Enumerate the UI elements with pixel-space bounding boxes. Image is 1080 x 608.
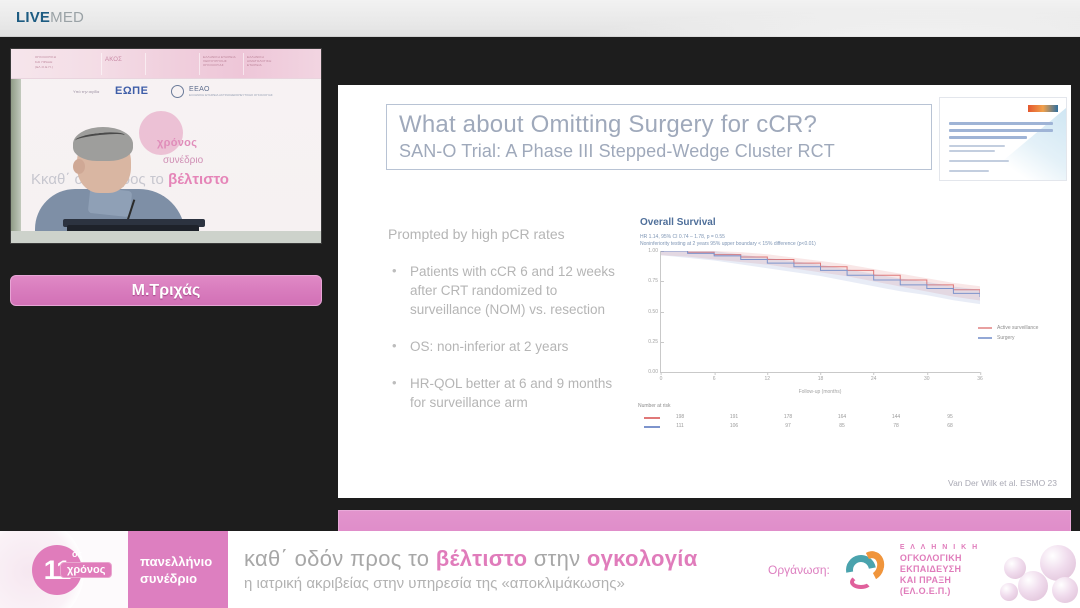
- speaker-video-panel[interactable]: ΟΓΚΟΛΟΓΙΚΗ ΚΑΙ ΠΡΑΞΗ (ΕΛ.Ο.Ε.Π.) ΑΚΟΣ ΕΛ…: [10, 48, 322, 244]
- risk-value: 97: [785, 423, 791, 429]
- backdrop-eead-logo: ΕΕΑΟ ΕΛΛΗΝΙΚΗ ΕΤΑΙΡΕΙΑ ΑΚΤΙΝΟΘΕΡΑΠΕΥΤΙΚΗ…: [189, 86, 273, 97]
- legend-swatch-surgery: [978, 337, 992, 339]
- chart-legend: Active surveillance Surgery: [978, 325, 1066, 345]
- x-tick-4: 24: [871, 372, 877, 382]
- list-item: HR-QOL better at 6 and 9 months for surv…: [388, 374, 628, 412]
- backdrop-chronos-text: χρόνος: [157, 137, 197, 149]
- list-item: OS: non-inferior at 2 years: [388, 337, 628, 356]
- risk-value: 68: [947, 423, 953, 429]
- legend-item-surveillance: Active surveillance: [978, 325, 1066, 331]
- legend-item-surgery: Surgery: [978, 335, 1066, 341]
- x-tick-0: 0: [660, 372, 663, 382]
- tagline-highlight-1: βέλτιστο: [436, 546, 528, 571]
- paper-thumbnail-wedge: [980, 108, 1066, 180]
- tagline-highlight-2: ογκολογία: [587, 546, 698, 571]
- risk-value: 111: [676, 423, 684, 429]
- speaker-ear: [73, 159, 85, 174]
- risk-value: 85: [839, 423, 845, 429]
- backdrop-eead-seal: [171, 85, 184, 98]
- risk-table-title: Number at risk: [638, 403, 1063, 409]
- banner-logo-area: 11 ος χρόνος: [0, 531, 128, 608]
- list-item: Patients with cCR 6 and 12 weeks after C…: [388, 262, 628, 319]
- backdrop-sponsor-2: ΕΛΛΗΝΙΚΗ ΑΙΜΑΤΟΛΟΓΙΚΗ ΕΤΑΙΡΕΙΑ: [247, 55, 285, 67]
- y-tick-3: 0.75: [648, 278, 661, 284]
- backdrop-eope-logo: ΕΩΠΕ: [115, 85, 148, 97]
- legend-label-surveillance: Active surveillance: [997, 325, 1038, 331]
- slide-title-box: What about Omitting Surgery for cCR? SAN…: [386, 104, 932, 170]
- slide-bullet-block: Prompted by high pCR rates Patients with…: [388, 225, 628, 430]
- conference-banner: 11 ος χρόνος πανελλήνιο συνέδριο καθ΄ οδ…: [0, 531, 1080, 608]
- y-tick-2: 0.50: [648, 309, 661, 315]
- slide-panel[interactable]: What about Omitting Surgery for cCR? SAN…: [338, 85, 1071, 498]
- x-tick-3: 18: [818, 372, 824, 382]
- backdrop-akos-logo: ΑΚΟΣ: [105, 58, 122, 62]
- chart-annotations: HR 1.14, 95% CI 0.74 – 1.78, p = 0.55 No…: [640, 234, 816, 248]
- x-tick-6: 36: [977, 372, 983, 382]
- survival-chart: Overall Survival HR 1.14, 95% CI 0.74 – …: [638, 217, 1063, 461]
- presentation-stage: ΟΓΚΟΛΟΓΙΚΗ ΚΑΙ ΠΡΑΞΗ (ΕΛ.Ο.Ε.Π.) ΑΚΟΣ ΕΛ…: [0, 37, 1080, 531]
- backdrop-synedrio-text: συνέδριο: [163, 155, 203, 166]
- organizer-label: Οργάνωση:: [768, 563, 830, 577]
- slide-title-main: What about Omitting Surgery for cCR?: [399, 111, 921, 139]
- backdrop-eead-sub: ΕΛΛΗΝΙΚΗ ΕΤΑΙΡΕΙΑ ΑΚΤΙΝΟΘΕΡΑΠΕΥΤΙΚΗΣ ΟΓΚ…: [189, 93, 273, 97]
- paper-thumbnail: [939, 97, 1067, 181]
- speaker-video-feed: ΟΓΚΟΛΟΓΙΚΗ ΚΑΙ ΠΡΑΞΗ (ΕΛ.Ο.Ε.Π.) ΑΚΟΣ ΕΛ…: [11, 49, 321, 243]
- paper-journal-badge: [1028, 105, 1058, 112]
- table-row: 111 106 97 85 78 68: [638, 423, 1063, 432]
- bullet-list: Patients with cCR 6 and 12 weeks after C…: [388, 262, 628, 412]
- risk-value: 106: [730, 423, 738, 429]
- anniversary-chronos: χρόνος: [60, 562, 112, 578]
- banner-subtagline: η ιατρική ακριβείας στην υπηρεσία της «α…: [244, 573, 698, 595]
- kaplan-meier-curves: [661, 251, 980, 372]
- banner-bubbles-decoration: [960, 531, 1080, 608]
- number-at-risk-table: Number at risk 198 191 178 164 144 95 11…: [638, 403, 1063, 432]
- logo-live-text: LIVE: [16, 9, 50, 26]
- logo-med-text: MED: [50, 9, 84, 26]
- table-row: 198 191 178 164 144 95: [638, 414, 1063, 423]
- organizer-swirl-icon: [844, 549, 892, 591]
- risk-value: 198: [676, 414, 684, 420]
- legend-label-surgery: Surgery: [997, 335, 1015, 341]
- congress-label: πανελλήνιο συνέδριο: [128, 531, 228, 608]
- tagline-pre: καθ΄ οδόν προς το: [244, 546, 436, 571]
- chart-title: Overall Survival: [640, 217, 716, 228]
- banner-tagline: καθ΄ οδόν προς το βέλτιστο στην ογκολογί…: [244, 545, 698, 573]
- backdrop-aegis-label: Υπό την αιγίδα: [73, 89, 99, 94]
- chart-annotation-noninferiority: Noninferiority testing at 2 years 95% up…: [640, 241, 816, 248]
- risk-value: 178: [784, 414, 792, 420]
- risk-swatch-surveillance: [644, 417, 660, 419]
- risk-value: 144: [892, 414, 900, 420]
- backdrop-org-text2: ΚΑΙ ΠΡΑΞΗ: [35, 60, 95, 64]
- speaker-name-text: Μ.Τριχάς: [132, 282, 201, 300]
- top-bar: LIVEMED: [0, 0, 1080, 37]
- chart-annotation-hr: HR 1.14, 95% CI 0.74 – 1.78, p = 0.55: [640, 234, 816, 241]
- tagline-mid: στην: [527, 546, 587, 571]
- y-tick-4: 1.00: [648, 248, 661, 254]
- legend-swatch-surveillance: [978, 327, 992, 329]
- backdrop-org-text: ΟΓΚΟΛΟΓΙΚΗ: [35, 55, 95, 59]
- backdrop-org-text3: (ΕΛ.Ο.Ε.Π.): [35, 65, 95, 69]
- anniversary-ordinal: ος: [72, 549, 82, 559]
- congress-line-1: πανελλήνιο: [140, 553, 228, 570]
- congress-line-2: συνέδριο: [140, 570, 228, 587]
- x-tick-1: 6: [713, 372, 716, 382]
- risk-value: 191: [730, 414, 738, 420]
- chart-plot-area: 0.00 0.25 0.50 0.75 1.00 0 6 12 18 24 30…: [660, 251, 980, 373]
- speaker-nameplate: Μ.Τριχάς: [10, 275, 322, 306]
- y-tick-1: 0.25: [648, 339, 661, 345]
- x-tick-5: 30: [924, 372, 930, 382]
- risk-value: 78: [893, 423, 899, 429]
- risk-value: 95: [947, 414, 953, 420]
- banner-tagline-block: καθ΄ οδόν προς το βέλτιστο στην ογκολογί…: [244, 531, 698, 608]
- backdrop-sponsor-strip: ΟΓΚΟΛΟΓΙΚΗ ΚΑΙ ΠΡΑΞΗ (ΕΛ.Ο.Ε.Π.) ΑΚΟΣ ΕΛ…: [10, 49, 322, 79]
- video-floor: [11, 231, 321, 243]
- bullet-lead: Prompted by high pCR rates: [388, 225, 628, 244]
- risk-swatch-surgery: [644, 426, 660, 428]
- x-tick-2: 12: [765, 372, 771, 382]
- risk-value: 164: [838, 414, 846, 420]
- livemed-logo[interactable]: LIVEMED: [16, 9, 84, 26]
- slide-title-sub: SAN-O Trial: A Phase III Stepped-Wedge C…: [399, 139, 921, 163]
- backdrop-sponsor-1: ΕΛΛΗΝΙΚΗ ΕΤΑΙΡΕΙΑ ΧΕΙΡΟΥΡΓΙΚΗΣ ΟΓΚΟΛΟΓΙΑ…: [203, 55, 241, 67]
- slide-citation: Van Der Wilk et al. ESMO 23: [948, 478, 1057, 488]
- organizer-block: Οργάνωση: Ε Λ Λ Η Ν Ι Κ Η ΟΓΚΟΛΟΓΙΚΗ ΕΚΠ…: [768, 531, 979, 608]
- chart-x-axis-label: Follow-up (months): [660, 389, 980, 395]
